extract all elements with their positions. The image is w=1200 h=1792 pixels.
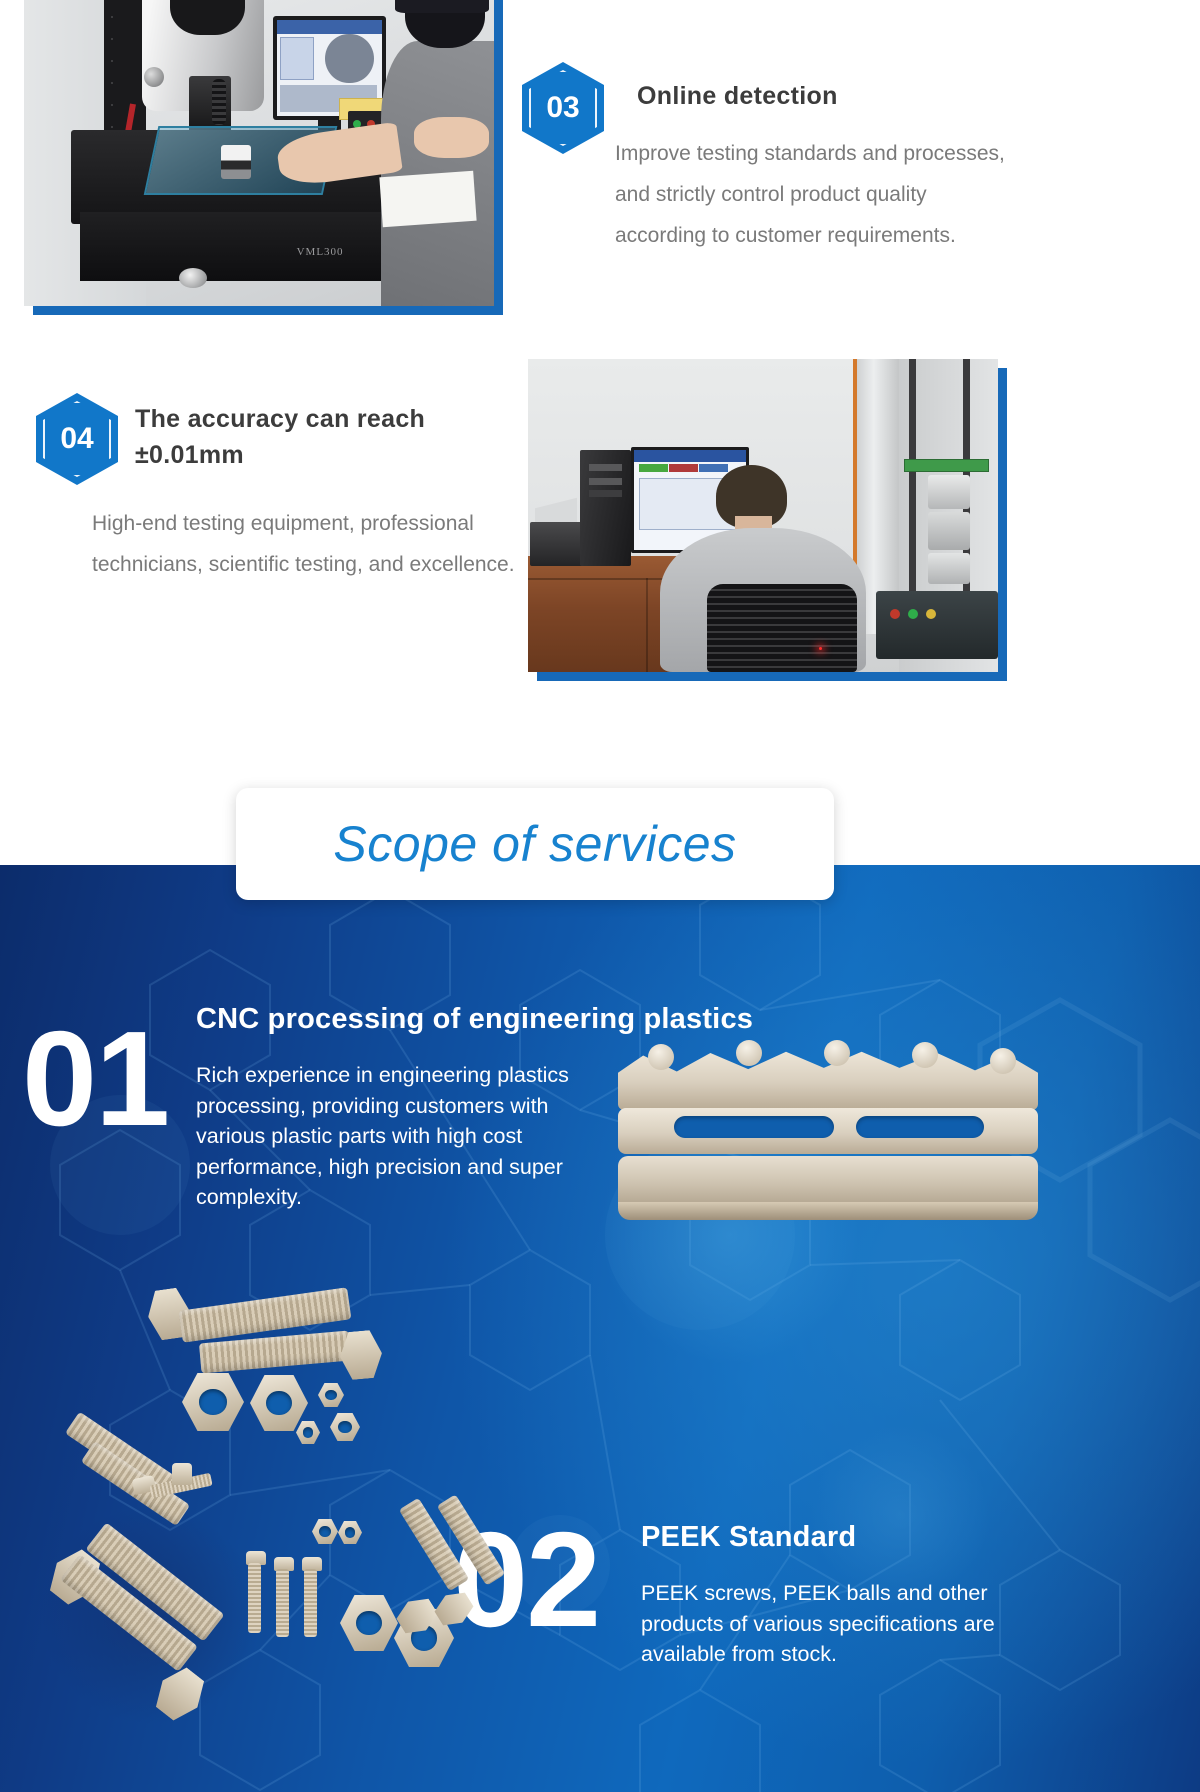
badge-number: 03 — [522, 62, 604, 154]
middle-grip — [928, 512, 970, 550]
software-titlebar — [277, 20, 382, 33]
focus-knob — [144, 67, 164, 87]
hex-nut-small — [296, 1421, 320, 1444]
machine-rails — [909, 359, 916, 591]
scope-heading: Scope of services — [333, 815, 736, 873]
badge-04: 04 — [36, 393, 118, 485]
machine-control-console — [876, 591, 998, 660]
machine-crosshead — [904, 459, 989, 472]
nut-hole — [338, 1421, 351, 1433]
hex-nut-small — [330, 1413, 360, 1441]
nut-hole — [325, 1390, 336, 1401]
nut-hole — [345, 1527, 356, 1537]
upper-grip — [928, 475, 970, 509]
chain-tooth — [824, 1040, 850, 1066]
paper-sheet — [380, 170, 477, 227]
printer — [530, 522, 586, 566]
product-image-peek-chain — [618, 1030, 1038, 1265]
nut-hole — [356, 1611, 382, 1636]
feature-title-03: Online detection — [637, 78, 1057, 114]
page-root: VML300 03 Online detec — [0, 0, 1200, 1792]
photo-online-detection-image: VML300 — [24, 0, 494, 306]
operator-right-hand — [414, 117, 489, 158]
screw-shaft — [304, 1569, 317, 1637]
product-image-peek-fasteners — [0, 1265, 470, 1792]
sample-part — [221, 145, 251, 179]
service-body-01: Rich experience in engineering plastics … — [196, 1060, 596, 1213]
software-panel — [280, 37, 314, 79]
photo-testing-lab — [537, 368, 1007, 681]
nut-hole — [303, 1427, 314, 1437]
software-titlebar — [634, 450, 746, 462]
feature-body-03: Improve testing standards and processes,… — [615, 134, 1015, 257]
stage-roller — [179, 268, 207, 288]
chain-slot — [856, 1116, 984, 1138]
feature-title-04: The accuracy can reach ±0.01mm — [135, 401, 535, 474]
service-number-01: 01 — [22, 1011, 168, 1146]
nut-hole — [199, 1389, 226, 1415]
hex-nut-small — [312, 1519, 338, 1544]
coiled-cable — [212, 79, 226, 125]
hex-nut-small — [318, 1383, 344, 1407]
lower-grip — [928, 553, 970, 584]
features-section: VML300 03 Online detec — [0, 0, 1200, 865]
hex-nut — [182, 1373, 244, 1431]
software-toolbar — [639, 464, 668, 472]
tensile-testing-lab-scene — [528, 359, 998, 672]
hex-nut — [340, 1595, 398, 1651]
screw-shaft — [248, 1563, 261, 1633]
chain-tooth — [648, 1044, 674, 1070]
hex-nut-small — [338, 1521, 362, 1544]
screw-shaft — [276, 1569, 289, 1637]
feature-body-04: High-end testing equipment, professional… — [92, 504, 522, 586]
service-title-02: PEEK Standard — [641, 1521, 1061, 1554]
scope-title-card: Scope of services — [236, 788, 834, 900]
bolt-head — [147, 1661, 212, 1727]
measured-circle — [325, 34, 373, 84]
hex-nut — [250, 1375, 308, 1431]
nut-hole — [266, 1391, 292, 1416]
vision-measuring-machine-scene: VML300 — [24, 0, 494, 306]
service-body-02: PEEK screws, PEEK balls and other produc… — [641, 1578, 1041, 1670]
desk-seam — [646, 578, 648, 672]
chain-tooth — [990, 1048, 1016, 1074]
computer-tower — [580, 450, 632, 566]
chain-tooth — [736, 1040, 762, 1066]
badge-03: 03 — [522, 62, 604, 154]
chain-tooth — [912, 1042, 938, 1068]
chain-bottom-edge — [618, 1202, 1038, 1220]
photo-online-detection: VML300 — [33, 0, 503, 315]
screw-head — [172, 1463, 192, 1485]
nut-hole — [319, 1526, 330, 1537]
chain-slot — [674, 1116, 834, 1138]
machine-model-label: VML300 — [297, 246, 344, 258]
operator-cap — [395, 0, 489, 13]
office-chair — [707, 584, 857, 672]
photo-testing-lab-image — [528, 359, 998, 672]
badge-number: 04 — [36, 393, 118, 485]
